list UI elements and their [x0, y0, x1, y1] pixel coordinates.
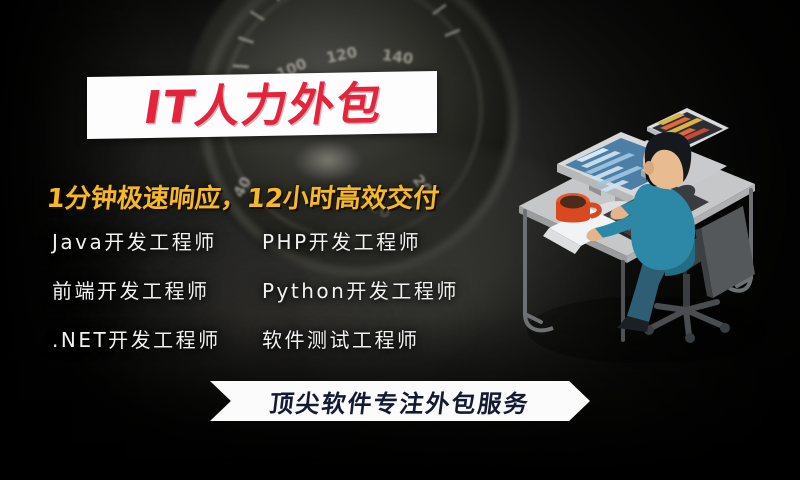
service-item-qa: 软件测试工程师 [262, 324, 492, 353]
service-item-python: Python开发工程师 [262, 275, 492, 304]
service-item-dotnet: .NET开发工程师 [52, 324, 262, 353]
developer-at-desk-illustration [497, 78, 797, 363]
service-item-java: Java开发工程师 [52, 226, 262, 255]
bottom-ribbon-text: 顶尖软件专注外包服务 [208, 381, 593, 421]
subtitle: 1分钟极速响应，12小时高效交付 [45, 178, 441, 215]
service-list: Java开发工程师 PHP开发工程师 前端开发工程师 Python开发工程师 .… [52, 226, 492, 353]
poster-root: 100 120 140 40 20 220 IT人力外包 1分钟极速响应，12小… [0, 0, 800, 480]
page-title: IT人力外包 [91, 73, 436, 137]
service-item-frontend: 前端开发工程师 [52, 275, 262, 304]
service-item-php: PHP开发工程师 [262, 226, 492, 255]
